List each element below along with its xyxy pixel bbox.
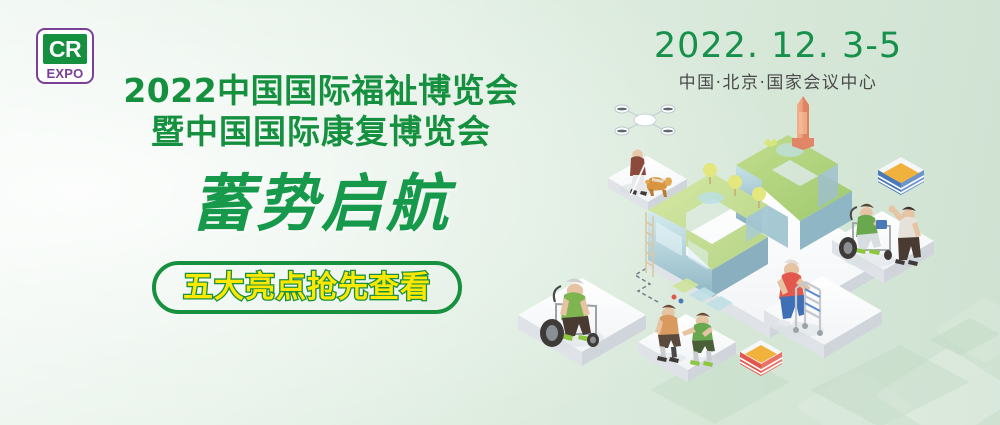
headline-line-2: 暨中国国际康复博览会 <box>96 111 546 152</box>
isometric-illustration <box>500 90 1000 425</box>
text-panel: CR EXPO 2022中国国际福祉博览会 暨中国国际康复博览会 蓄势启航 五大… <box>0 0 560 425</box>
cr-expo-logo: CR EXPO <box>36 28 94 84</box>
view-highlights-button[interactable]: 五大亮点抢先查看 <box>152 261 462 314</box>
headline-line-1: 2022中国国际福祉博览会 <box>96 70 546 111</box>
logo-sub-text: EXPO <box>47 66 84 81</box>
logo-mark-text: CR <box>43 34 87 64</box>
drone <box>615 105 675 135</box>
view-highlights-button-label: 五大亮点抢先查看 <box>183 271 431 305</box>
event-date: 2022. 12. 3-5 <box>648 24 908 68</box>
expo-banner: CR EXPO 2022中国国际福祉博览会 暨中国国际康复博览会 蓄势启航 五大… <box>0 0 1000 425</box>
obelisk-monument <box>792 96 814 150</box>
headline: 2022中国国际福祉博览会 暨中国国际康复博览会 <box>96 70 546 152</box>
slogan-text: 蓄势启航 <box>96 168 546 240</box>
stacked-block-blue <box>878 157 924 195</box>
event-info: 2022. 12. 3-5 中国·北京·国家会议中心 <box>648 24 908 95</box>
